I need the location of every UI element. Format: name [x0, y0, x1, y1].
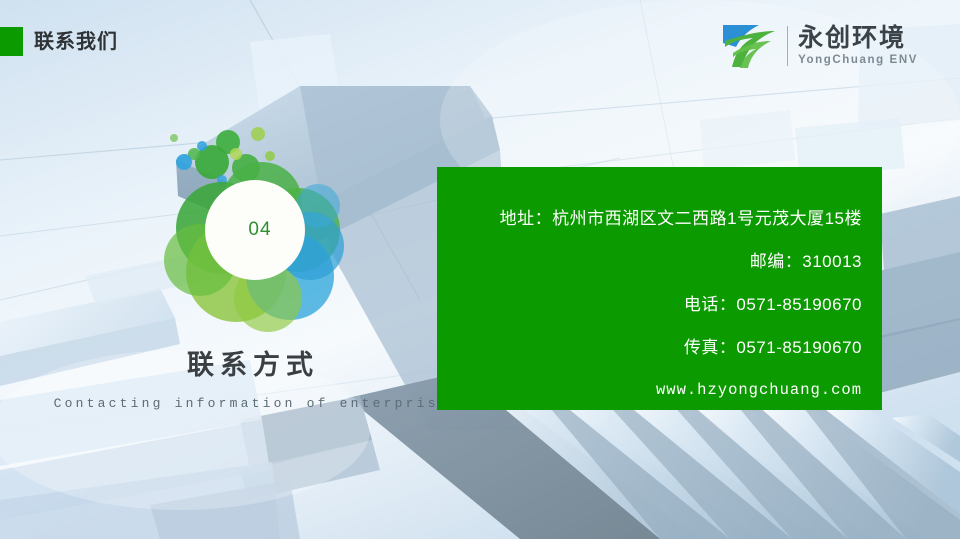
logo-name-cn: 永创环境: [798, 25, 918, 52]
contact-phone: 电话：0571-85190670: [437, 283, 862, 326]
logo-wordmark: 永创环境 YongChuang ENV: [798, 25, 918, 67]
contact-address: 地址：杭州市西湖区文二西路1号元茂大厦15楼: [437, 197, 862, 240]
logo-name-en: YongChuang ENV: [798, 53, 918, 67]
page-title: 联系我们: [34, 29, 118, 55]
contact-info-panel: 地址：杭州市西湖区文二西路1号元茂大厦15楼 邮编：310013 电话：0571…: [437, 167, 882, 410]
section-title: 联系方式: [0, 348, 500, 382]
section-number-badge: 04: [150, 120, 370, 340]
company-logo: 永创环境 YongChuang ENV: [719, 20, 918, 72]
leaf-swoosh-icon: [719, 21, 781, 71]
logo-divider: [787, 26, 788, 66]
contact-website[interactable]: www.hzyongchuang.com: [437, 369, 862, 412]
slide-canvas: 联系我们 永创环境 YongChuang ENV: [0, 0, 960, 539]
contact-fax: 传真：0571-85190670: [437, 326, 862, 369]
section-subtitle: Contacting information of enterprise: [0, 395, 500, 413]
bubble-cluster-icon: [150, 120, 370, 340]
contact-postcode: 邮编：310013: [437, 240, 862, 283]
header-accent-mark: [0, 27, 23, 56]
